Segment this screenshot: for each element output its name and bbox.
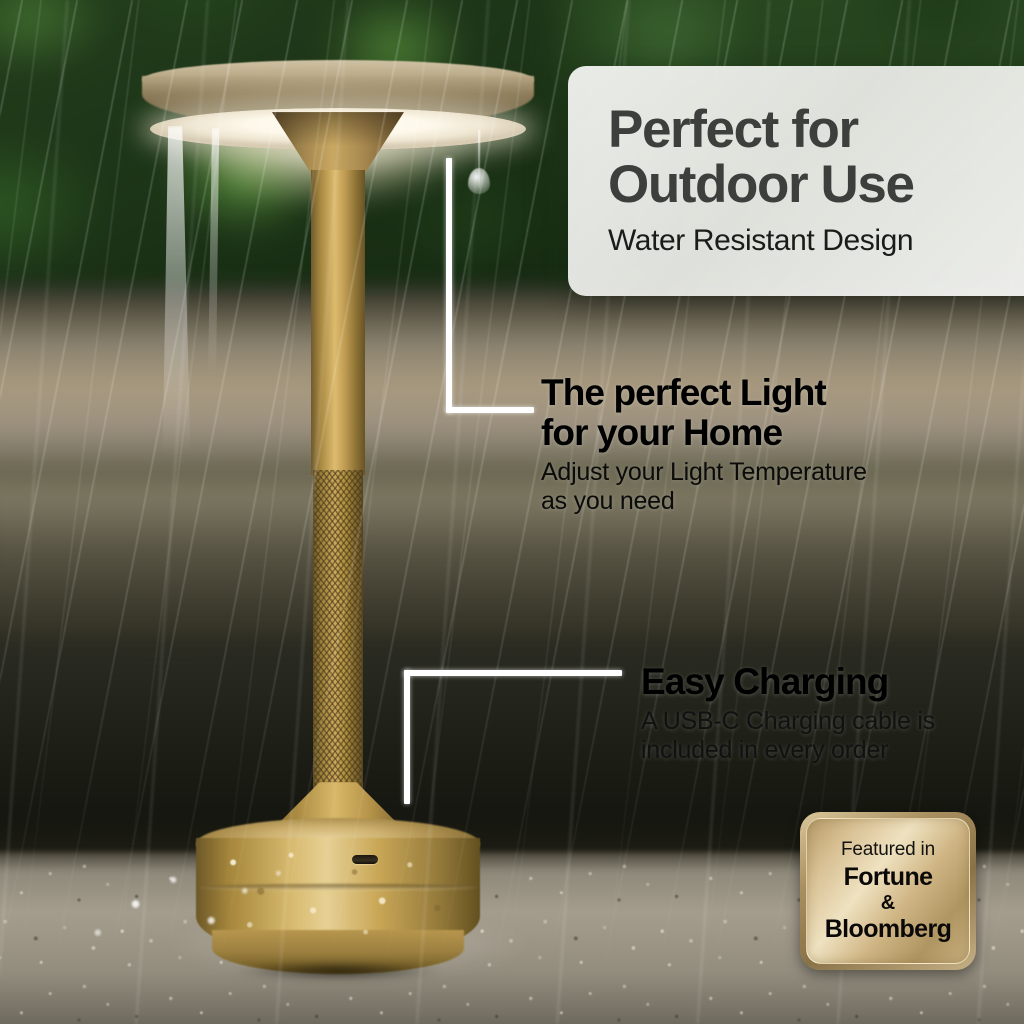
hero-headline-card: Perfect for Outdoor Use Water Resistant … [568, 66, 1024, 296]
featured-in-badge-inner: Featured in Fortune & Bloomberg [806, 818, 970, 964]
featured-in-prefix: Featured in [841, 839, 935, 861]
product-feature-graphic: Perfect for Outdoor Use Water Resistant … [0, 0, 1024, 1024]
featured-in-ampersand: & [881, 893, 895, 913]
water-splash-droplets [60, 860, 480, 970]
callout-line-vertical [404, 670, 410, 804]
feature-light-title-line-2: for your Home [541, 413, 971, 453]
feature-charging-title: Easy Charging [641, 662, 1021, 702]
callout-line-shade [446, 158, 546, 420]
feature-light-body-line-2: as you need [541, 487, 971, 516]
featured-in-badge: Featured in Fortune & Bloomberg [800, 812, 976, 970]
callout-line-vertical [446, 158, 452, 413]
feature-block-light: The perfect Light for your Home Adjust y… [541, 373, 971, 516]
featured-in-publication-1: Fortune [844, 863, 933, 891]
callout-line-base [404, 670, 624, 810]
callout-line-horizontal [446, 407, 534, 413]
feature-light-title-line-1: The perfect Light [541, 373, 971, 413]
hero-title-line-2: Outdoor Use [608, 157, 1024, 212]
feature-charging-body-line-2: included in every order [641, 736, 1021, 765]
featured-in-publication-2: Bloomberg [825, 915, 952, 943]
feature-block-charging: Easy Charging A USB-C Charging cable is … [641, 662, 1021, 765]
hero-title-line-1: Perfect for [608, 102, 1024, 157]
hero-subtitle: Water Resistant Design [608, 224, 1024, 258]
feature-charging-body-line-1: A USB-C Charging cable is [641, 707, 1021, 736]
callout-line-horizontal [404, 670, 622, 676]
feature-light-body-line-1: Adjust your Light Temperature [541, 458, 971, 487]
